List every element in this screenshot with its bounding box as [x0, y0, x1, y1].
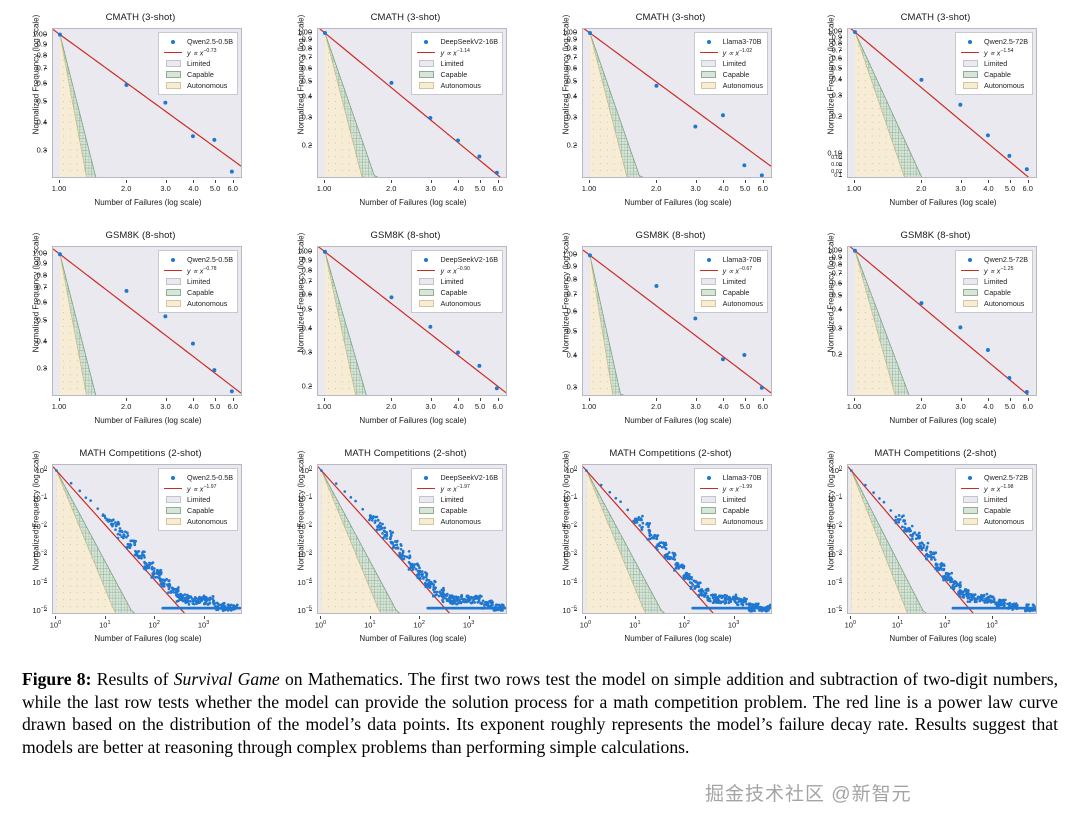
- x-tick-label: 3.0: [955, 184, 965, 193]
- legend-model-label: Llama3-70B: [720, 473, 762, 482]
- x-tick-label: 3.0: [690, 184, 700, 193]
- autonomous-swatch-icon: [162, 82, 184, 89]
- axes: Llama3-70By ∝ x−0.67LimitedCapableAutono…: [582, 246, 772, 396]
- legend-autonomous-label: Autonomous: [437, 299, 480, 308]
- y-tick-label: 10−5: [562, 605, 577, 615]
- legend-entry-autonomous: Autonomous: [959, 80, 1028, 91]
- legend-entry-model: Qwen2.5-72B: [959, 472, 1028, 483]
- x-axis-label: Number of Failures (log scale): [28, 416, 268, 425]
- legend-entry-limited: Limited: [415, 58, 498, 69]
- legend-model-label: Qwen2.5-0.5B: [184, 255, 233, 264]
- x-tick-label: 102: [149, 620, 160, 630]
- scatter-marker-icon: [959, 258, 981, 262]
- legend-entry-capable: Capable: [415, 287, 498, 298]
- panel-grid: CMATH (3-shot)Qwen2.5-0.5By ∝ x−0.73Limi…: [0, 0, 1080, 660]
- legend-entry-limited: Limited: [959, 494, 1028, 505]
- x-tick-label: 1.00: [52, 402, 67, 411]
- capable-swatch-icon: [415, 289, 437, 296]
- y-axis-ticks: 1.000.90.80.70.60.50.40.30.20.100.090.08…: [803, 28, 845, 178]
- legend-limited-label: Limited: [720, 277, 746, 286]
- capable-swatch-icon: [959, 289, 981, 296]
- scatter-marker-icon: [162, 40, 184, 44]
- legend-autonomous-label: Autonomous: [184, 517, 227, 526]
- line-icon: [698, 52, 720, 54]
- x-tick-label: 102: [679, 620, 690, 630]
- autonomous-swatch-icon: [415, 300, 437, 307]
- limited-swatch-icon: [162, 60, 184, 67]
- x-tick-label: 3.0: [425, 184, 435, 193]
- capable-swatch-icon: [698, 71, 720, 78]
- chart-legend: Llama3-70By ∝ x−0.67LimitedCapableAutono…: [694, 250, 768, 313]
- legend-limited-label: Limited: [437, 495, 463, 504]
- y-axis-ticks: 1.000.90.80.70.60.50.40.30.2: [273, 28, 315, 178]
- legend-entry-autonomous: Autonomous: [415, 298, 498, 309]
- x-tick-label: 102: [939, 620, 950, 630]
- legend-model-label: Qwen2.5-72B: [981, 473, 1028, 482]
- chart-panel-r2c2: GSM8K (8-shot)DeepSeekV2-16By ∝ x−0.90Li…: [273, 228, 538, 443]
- legend-entry-limited: Limited: [415, 494, 498, 505]
- capable-swatch-icon: [162, 289, 184, 296]
- figure-label: Figure 8:: [22, 669, 91, 689]
- fit-exponent: −1.99: [739, 484, 752, 490]
- y-tick-label: 0.3: [567, 383, 577, 392]
- chart-panel-r2c3: GSM8K (8-shot)Llama3-70By ∝ x−0.67Limite…: [538, 228, 803, 443]
- x-tick-label: 6.0: [758, 402, 768, 411]
- x-tick-label: 2.0: [386, 184, 396, 193]
- fit-base: y ∝ x: [440, 266, 456, 275]
- x-axis-label: Number of Failures (log scale): [558, 634, 798, 643]
- legend-fit-label: y ∝ x−1.02: [720, 48, 752, 57]
- x-axis-ticks: 100101102103: [582, 616, 772, 630]
- legend-limited-label: Limited: [720, 59, 746, 68]
- legend-limited-label: Limited: [981, 495, 1007, 504]
- panel-title: CMATH (3-shot): [538, 12, 803, 23]
- fit-exponent: −1.02: [739, 48, 752, 54]
- x-tick-label: 4.0: [453, 184, 463, 193]
- legend-limited-label: Limited: [437, 59, 463, 68]
- x-tick-label: 103: [986, 620, 997, 630]
- scatter-marker-icon: [415, 258, 437, 262]
- y-tick-label: 10−5: [32, 605, 47, 615]
- plot-area: Qwen2.5-72By ∝ x−1.25LimitedCapableAuton…: [847, 246, 1037, 396]
- legend-entry-capable: Capable: [162, 69, 233, 80]
- autonomous-swatch-icon: [415, 518, 437, 525]
- legend-entry-capable: Capable: [698, 69, 763, 80]
- legend-entry-limited: Limited: [415, 276, 498, 287]
- figure-page: CMATH (3-shot)Qwen2.5-0.5By ∝ x−0.73Limi…: [0, 0, 1080, 824]
- chart-panel-r1c1: CMATH (3-shot)Qwen2.5-0.5By ∝ x−0.73Limi…: [8, 10, 273, 225]
- legend-limited-label: Limited: [437, 277, 463, 286]
- limited-swatch-icon: [162, 278, 184, 285]
- line-icon: [959, 488, 981, 490]
- autonomous-swatch-icon: [162, 300, 184, 307]
- autonomous-swatch-icon: [959, 518, 981, 525]
- x-tick-label: 100: [315, 620, 326, 630]
- x-axis-ticks: 100101102103: [847, 616, 1037, 630]
- x-tick-label: 4.0: [188, 402, 198, 411]
- panel-title: CMATH (3-shot): [273, 12, 538, 23]
- legend-entry-capable: Capable: [959, 505, 1028, 516]
- line-icon: [959, 270, 981, 272]
- legend-entry-capable: Capable: [698, 505, 763, 516]
- axes: Qwen2.5-0.5By ∝ x−1.97LimitedCapableAuto…: [52, 464, 242, 614]
- legend-entry-model: Llama3-70B: [698, 36, 763, 47]
- capable-swatch-icon: [415, 507, 437, 514]
- x-tick-label: 3.0: [690, 402, 700, 411]
- y-axis-label: Normalized Frequency (log scale): [32, 0, 41, 155]
- x-tick-label: 2.0: [916, 184, 926, 193]
- x-tick-label: 2.0: [651, 402, 661, 411]
- legend-entry-fit: y ∝ x−0.73: [162, 47, 233, 58]
- legend-fit-label: y ∝ x−1.25: [981, 266, 1013, 275]
- legend-entry-fit: y ∝ x−1.54: [959, 47, 1028, 58]
- legend-limited-label: Limited: [184, 59, 210, 68]
- x-tick-label: 2.0: [121, 402, 131, 411]
- chart-legend: Qwen2.5-72By ∝ x−1.98LimitedCapableAuton…: [955, 468, 1033, 531]
- legend-fit-label: y ∝ x−1.54: [981, 48, 1013, 57]
- line-icon: [162, 52, 184, 54]
- capable-swatch-icon: [698, 289, 720, 296]
- x-axis-label: Number of Failures (log scale): [823, 634, 1063, 643]
- chart-legend: Qwen2.5-72By ∝ x−1.54LimitedCapableAuton…: [955, 32, 1033, 95]
- chart-legend: DeepSeekV2-16By ∝ x−1.97LimitedCapableAu…: [411, 468, 503, 531]
- plot-area: Qwen2.5-0.5By ∝ x−0.73LimitedCapableAuto…: [52, 28, 242, 178]
- limited-swatch-icon: [162, 496, 184, 503]
- legend-entry-autonomous: Autonomous: [959, 516, 1028, 527]
- scatter-marker-icon: [162, 476, 184, 480]
- legend-autonomous-label: Autonomous: [981, 81, 1024, 90]
- axes: Qwen2.5-72By ∝ x−1.54LimitedCapableAuton…: [847, 28, 1037, 178]
- legend-entry-autonomous: Autonomous: [415, 516, 498, 527]
- fit-base: y ∝ x: [440, 484, 456, 493]
- x-axis-ticks: 1.002.03.04.05.06.0: [847, 180, 1037, 194]
- axes: Llama3-70By ∝ x−1.02LimitedCapableAutono…: [582, 28, 772, 178]
- legend-entry-autonomous: Autonomous: [698, 516, 763, 527]
- x-axis-label: Number of Failures (log scale): [823, 416, 1063, 425]
- legend-entry-limited: Limited: [162, 58, 233, 69]
- legend-limited-label: Limited: [981, 277, 1007, 286]
- axes: Qwen2.5-0.5By ∝ x−0.73LimitedCapableAuto…: [52, 28, 242, 178]
- y-tick-label: 0.08: [831, 162, 842, 168]
- legend-entry-fit: y ∝ x−1.02: [698, 47, 763, 58]
- legend-entry-limited: Limited: [698, 494, 763, 505]
- chart-legend: Llama3-70By ∝ x−1.99LimitedCapableAutono…: [694, 468, 768, 531]
- limited-swatch-icon: [698, 496, 720, 503]
- x-tick-label: 1.00: [847, 402, 862, 411]
- y-tick-label: 10−5: [827, 605, 842, 615]
- fit-exponent: −1.14: [457, 48, 470, 54]
- x-axis-ticks: 1.002.03.04.05.06.0: [52, 398, 242, 412]
- chart-panel-r1c3: CMATH (3-shot)Llama3-70By ∝ x−1.02Limite…: [538, 10, 803, 225]
- y-axis-label: Normalized Frequency (log scale): [297, 0, 306, 155]
- fit-exponent: −0.78: [203, 266, 216, 272]
- legend-capable-label: Capable: [981, 288, 1011, 297]
- axes: Qwen2.5-72By ∝ x−1.98LimitedCapableAuton…: [847, 464, 1037, 614]
- axes: Qwen2.5-72By ∝ x−1.25LimitedCapableAuton…: [847, 246, 1037, 396]
- y-axis-ticks: 1.000.90.80.70.60.50.40.30.2: [273, 246, 315, 396]
- legend-fit-label: y ∝ x−0.73: [184, 48, 216, 57]
- scatter-marker-icon: [959, 476, 981, 480]
- autonomous-swatch-icon: [162, 518, 184, 525]
- fit-base: y ∝ x: [187, 266, 203, 275]
- y-axis-ticks: 10010−110−210−310−410−5: [803, 464, 845, 614]
- x-tick-label: 1.00: [52, 184, 67, 193]
- fit-base: y ∝ x: [723, 484, 739, 493]
- fit-base: y ∝ x: [984, 484, 1000, 493]
- x-tick-label: 6.0: [228, 402, 238, 411]
- legend-entry-limited: Limited: [698, 276, 763, 287]
- fit-base: y ∝ x: [723, 48, 739, 57]
- legend-capable-label: Capable: [437, 288, 467, 297]
- legend-fit-label: y ∝ x−1.97: [437, 484, 469, 493]
- caption-emphasis-survival-game: Survival Game: [174, 669, 280, 689]
- y-axis-ticks: 1.000.90.80.70.60.50.40.3: [8, 246, 50, 396]
- x-tick-label: 1.00: [317, 184, 332, 193]
- legend-limited-label: Limited: [184, 495, 210, 504]
- legend-capable-label: Capable: [437, 506, 467, 515]
- legend-model-label: Qwen2.5-72B: [981, 37, 1028, 46]
- capable-swatch-icon: [162, 507, 184, 514]
- legend-entry-capable: Capable: [959, 69, 1028, 80]
- x-tick-label: 2.0: [916, 402, 926, 411]
- x-tick-label: 101: [892, 620, 903, 630]
- x-tick-label: 1.00: [847, 184, 862, 193]
- capable-swatch-icon: [415, 71, 437, 78]
- fit-exponent: −1.97: [457, 484, 470, 490]
- limited-swatch-icon: [415, 60, 437, 67]
- legend-capable-label: Capable: [184, 506, 214, 515]
- y-axis-ticks: 1.000.90.80.70.60.50.40.30.2: [538, 28, 580, 178]
- x-tick-label: 3.0: [160, 184, 170, 193]
- panel-title: GSM8K (8-shot): [538, 230, 803, 241]
- legend-fit-label: y ∝ x−1.97: [184, 484, 216, 493]
- chart-panel-r3c3: MATH Competitions (2-shot)Llama3-70By ∝ …: [538, 446, 803, 661]
- fit-exponent: −0.73: [203, 48, 216, 54]
- legend-limited-label: Limited: [184, 277, 210, 286]
- plot-area: DeepSeekV2-16By ∝ x−1.14LimitedCapableAu…: [317, 28, 507, 178]
- legend-capable-label: Capable: [720, 506, 750, 515]
- chart-panel-r2c1: GSM8K (8-shot)Qwen2.5-0.5By ∝ x−0.78Limi…: [8, 228, 273, 443]
- x-tick-label: 1.00: [317, 402, 332, 411]
- legend-autonomous-label: Autonomous: [184, 299, 227, 308]
- x-tick-label: 5.0: [740, 402, 750, 411]
- panel-title: GSM8K (8-shot): [273, 230, 538, 241]
- chart-panel-r3c1: MATH Competitions (2-shot)Qwen2.5-0.5By …: [8, 446, 273, 661]
- capable-swatch-icon: [959, 71, 981, 78]
- x-tick-label: 100: [580, 620, 591, 630]
- line-icon: [959, 52, 981, 54]
- x-tick-label: 5.0: [1005, 184, 1015, 193]
- x-tick-label: 5.0: [210, 184, 220, 193]
- legend-entry-autonomous: Autonomous: [698, 80, 763, 91]
- y-axis-ticks: 10010−110−210−310−410−5: [8, 464, 50, 614]
- limited-swatch-icon: [959, 496, 981, 503]
- y-axis-ticks: 1.000.90.80.70.60.50.40.3: [538, 246, 580, 396]
- x-axis-label: Number of Failures (log scale): [558, 198, 798, 207]
- legend-entry-capable: Capable: [415, 69, 498, 80]
- legend-model-label: DeepSeekV2-16B: [437, 255, 498, 264]
- x-axis-ticks: 100101102103: [317, 616, 507, 630]
- fit-base: y ∝ x: [984, 48, 1000, 57]
- caption-part-1: Results of: [91, 669, 173, 689]
- legend-entry-autonomous: Autonomous: [959, 298, 1028, 309]
- x-tick-label: 100: [50, 620, 61, 630]
- x-tick-label: 6.0: [493, 402, 503, 411]
- scatter-marker-icon: [698, 40, 720, 44]
- panel-title: GSM8K (8-shot): [8, 230, 273, 241]
- x-tick-label: 101: [99, 620, 110, 630]
- legend-entry-capable: Capable: [415, 505, 498, 516]
- y-axis-ticks: 10010−110−210−310−410−5: [273, 464, 315, 614]
- fit-exponent: −0.67: [739, 266, 752, 272]
- legend-entry-capable: Capable: [698, 287, 763, 298]
- autonomous-swatch-icon: [415, 82, 437, 89]
- x-axis-ticks: 100101102103: [52, 616, 242, 630]
- legend-autonomous-label: Autonomous: [437, 81, 480, 90]
- legend-entry-fit: y ∝ x−0.67: [698, 265, 763, 276]
- chart-panel-r1c2: CMATH (3-shot)DeepSeekV2-16By ∝ x−1.14Li…: [273, 10, 538, 225]
- legend-entry-capable: Capable: [162, 505, 233, 516]
- axes: DeepSeekV2-16By ∝ x−1.14LimitedCapableAu…: [317, 28, 507, 178]
- legend-fit-label: y ∝ x−0.90: [437, 266, 469, 275]
- x-axis-ticks: 1.002.03.04.05.06.0: [582, 180, 772, 194]
- plot-area: Qwen2.5-0.5By ∝ x−0.78LimitedCapableAuto…: [52, 246, 242, 396]
- legend-entry-autonomous: Autonomous: [162, 298, 233, 309]
- line-icon: [162, 270, 184, 272]
- x-axis-ticks: 1.002.03.04.05.06.0: [582, 398, 772, 412]
- line-icon: [415, 270, 437, 272]
- limited-swatch-icon: [415, 278, 437, 285]
- legend-model-label: Llama3-70B: [720, 37, 762, 46]
- legend-entry-limited: Limited: [959, 276, 1028, 287]
- x-tick-label: 1.00: [582, 402, 597, 411]
- legend-entry-fit: y ∝ x−1.97: [415, 483, 498, 494]
- plot-area: DeepSeekV2-16By ∝ x−0.90LimitedCapableAu…: [317, 246, 507, 396]
- panel-title: MATH Competitions (2-shot): [538, 448, 803, 459]
- y-axis-label: Normalized Frequency (log scale): [32, 431, 41, 591]
- legend-entry-model: DeepSeekV2-16B: [415, 472, 498, 483]
- fit-base: y ∝ x: [984, 266, 1000, 275]
- legend-capable-label: Capable: [981, 506, 1011, 515]
- legend-limited-label: Limited: [720, 495, 746, 504]
- legend-model-label: Llama3-70B: [720, 255, 762, 264]
- panel-title: CMATH (3-shot): [803, 12, 1068, 23]
- limited-swatch-icon: [415, 496, 437, 503]
- legend-fit-label: y ∝ x−0.67: [720, 266, 752, 275]
- line-icon: [162, 488, 184, 490]
- legend-model-label: Qwen2.5-0.5B: [184, 37, 233, 46]
- limited-swatch-icon: [959, 60, 981, 67]
- chart-legend: DeepSeekV2-16By ∝ x−1.14LimitedCapableAu…: [411, 32, 503, 95]
- limited-swatch-icon: [959, 278, 981, 285]
- x-axis-ticks: 1.002.03.04.05.06.0: [52, 180, 242, 194]
- chart-panel-r3c2: MATH Competitions (2-shot)DeepSeekV2-16B…: [273, 446, 538, 661]
- chart-legend: DeepSeekV2-16By ∝ x−0.90LimitedCapableAu…: [411, 250, 503, 313]
- fit-base: y ∝ x: [440, 48, 456, 57]
- plot-area: Llama3-70By ∝ x−0.67LimitedCapableAutono…: [582, 246, 772, 396]
- chart-panel-r2c4: GSM8K (8-shot)Qwen2.5-72By ∝ x−1.25Limit…: [803, 228, 1068, 443]
- chart-legend: Qwen2.5-0.5By ∝ x−0.73LimitedCapableAuto…: [158, 32, 238, 95]
- legend-autonomous-label: Autonomous: [720, 299, 763, 308]
- legend-entry-model: Qwen2.5-0.5B: [162, 36, 233, 47]
- fit-exponent: −1.97: [203, 484, 216, 490]
- x-axis-label: Number of Failures (log scale): [558, 416, 798, 425]
- legend-entry-fit: y ∝ x−1.99: [698, 483, 763, 494]
- plot-area: Qwen2.5-72By ∝ x−1.54LimitedCapableAuton…: [847, 28, 1037, 178]
- x-tick-label: 1.00: [582, 184, 597, 193]
- panel-title: CMATH (3-shot): [8, 12, 273, 23]
- axes: DeepSeekV2-16By ∝ x−1.97LimitedCapableAu…: [317, 464, 507, 614]
- legend-entry-limited: Limited: [698, 58, 763, 69]
- x-tick-label: 101: [364, 620, 375, 630]
- legend-entry-fit: y ∝ x−1.97: [162, 483, 233, 494]
- axes: Qwen2.5-0.5By ∝ x−0.78LimitedCapableAuto…: [52, 246, 242, 396]
- plot-area: Qwen2.5-72By ∝ x−1.98LimitedCapableAuton…: [847, 464, 1037, 614]
- legend-fit-label: y ∝ x−1.99: [720, 484, 752, 493]
- capable-swatch-icon: [698, 507, 720, 514]
- legend-capable-label: Capable: [184, 288, 214, 297]
- x-tick-label: 102: [414, 620, 425, 630]
- y-axis-label: Normalized Frequency (log scale): [297, 431, 306, 591]
- legend-entry-model: Qwen2.5-0.5B: [162, 472, 233, 483]
- x-axis-ticks: 1.002.03.04.05.06.0: [847, 398, 1037, 412]
- capable-swatch-icon: [959, 507, 981, 514]
- x-axis-label: Number of Failures (log scale): [293, 416, 533, 425]
- x-tick-label: 101: [629, 620, 640, 630]
- x-tick-label: 103: [463, 620, 474, 630]
- y-axis-ticks: 1.000.90.80.70.60.50.40.3: [8, 28, 50, 178]
- legend-limited-label: Limited: [981, 59, 1007, 68]
- scatter-marker-icon: [162, 258, 184, 262]
- x-tick-label: 6.0: [493, 184, 503, 193]
- x-axis-label: Number of Failures (log scale): [28, 634, 268, 643]
- x-axis-label: Number of Failures (log scale): [823, 198, 1063, 207]
- y-axis-label: Normalized Frequency (log scale): [562, 0, 571, 155]
- x-tick-label: 2.0: [121, 184, 131, 193]
- legend-entry-fit: y ∝ x−1.25: [959, 265, 1028, 276]
- panel-title: MATH Competitions (2-shot): [8, 448, 273, 459]
- plot-area: Qwen2.5-0.5By ∝ x−1.97LimitedCapableAuto…: [52, 464, 242, 614]
- plot-area: DeepSeekV2-16By ∝ x−1.97LimitedCapableAu…: [317, 464, 507, 614]
- fit-base: y ∝ x: [187, 484, 203, 493]
- x-tick-label: 6.0: [1023, 402, 1033, 411]
- y-axis-label: Normalized Frequency (log scale): [827, 431, 836, 591]
- y-tick-label: 10−5: [297, 605, 312, 615]
- legend-autonomous-label: Autonomous: [981, 517, 1024, 526]
- legend-model-label: DeepSeekV2-16B: [437, 37, 498, 46]
- line-icon: [698, 488, 720, 490]
- line-icon: [415, 488, 437, 490]
- legend-entry-model: Llama3-70B: [698, 472, 763, 483]
- autonomous-swatch-icon: [959, 300, 981, 307]
- x-tick-label: 5.0: [1005, 402, 1015, 411]
- x-tick-label: 4.0: [453, 402, 463, 411]
- legend-entry-capable: Capable: [959, 287, 1028, 298]
- y-axis-label: Normalized Frequency (log scale): [562, 213, 571, 373]
- panel-title: MATH Competitions (2-shot): [273, 448, 538, 459]
- chart-legend: Llama3-70By ∝ x−1.02LimitedCapableAutono…: [694, 32, 768, 95]
- figure-caption: Figure 8: Results of Survival Game on Ma…: [22, 668, 1058, 759]
- scatter-marker-icon: [415, 40, 437, 44]
- x-tick-label: 3.0: [955, 402, 965, 411]
- x-axis-label: Number of Failures (log scale): [28, 198, 268, 207]
- x-tick-label: 5.0: [475, 184, 485, 193]
- legend-entry-model: DeepSeekV2-16B: [415, 254, 498, 265]
- panel-title: GSM8K (8-shot): [803, 230, 1068, 241]
- chart-panel-r1c4: CMATH (3-shot)Qwen2.5-72By ∝ x−1.54Limit…: [803, 10, 1068, 225]
- fit-exponent: −1.25: [1000, 266, 1013, 272]
- x-tick-label: 4.0: [983, 402, 993, 411]
